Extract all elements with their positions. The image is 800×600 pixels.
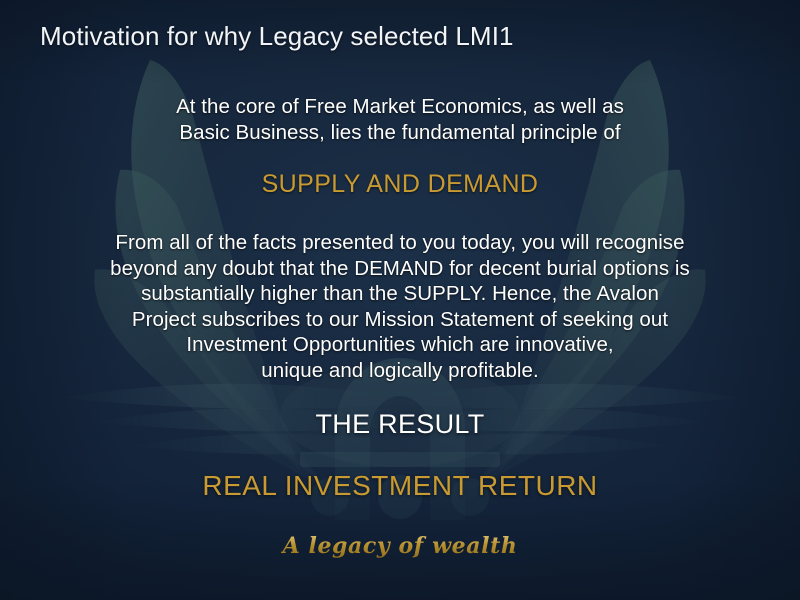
tagline: A legacy of wealth (0, 533, 800, 559)
intro-line-2: Basic Business, lies the fundamental pri… (50, 120, 750, 146)
body-line-2: beyond any doubt that the DEMAND for dec… (50, 256, 750, 282)
body-line-6: unique and logically profitable. (50, 358, 750, 384)
supply-and-demand-heading: SUPPLY AND DEMAND (50, 170, 750, 199)
page-title: Motivation for why Legacy selected LMI1 (40, 21, 514, 52)
presentation-slide: Motivation for why Legacy selected LMI1 … (0, 0, 800, 600)
body-line-3: substantially higher than the SUPPLY. He… (50, 281, 750, 307)
slide-content: Motivation for why Legacy selected LMI1 … (0, 0, 800, 600)
body-line-1: From all of the facts presented to you t… (50, 230, 750, 256)
intro-line-1: At the core of Free Market Economics, as… (50, 94, 750, 120)
real-investment-return-heading: REAL INVESTMENT RETURN (50, 470, 750, 502)
result-heading: THE RESULT (50, 409, 750, 440)
body-paragraph: From all of the facts presented to you t… (50, 230, 750, 383)
intro-paragraph: At the core of Free Market Economics, as… (50, 94, 750, 145)
body-line-5: Investment Opportunities which are innov… (50, 332, 750, 358)
body-line-4: Project subscribes to our Mission Statem… (50, 307, 750, 333)
